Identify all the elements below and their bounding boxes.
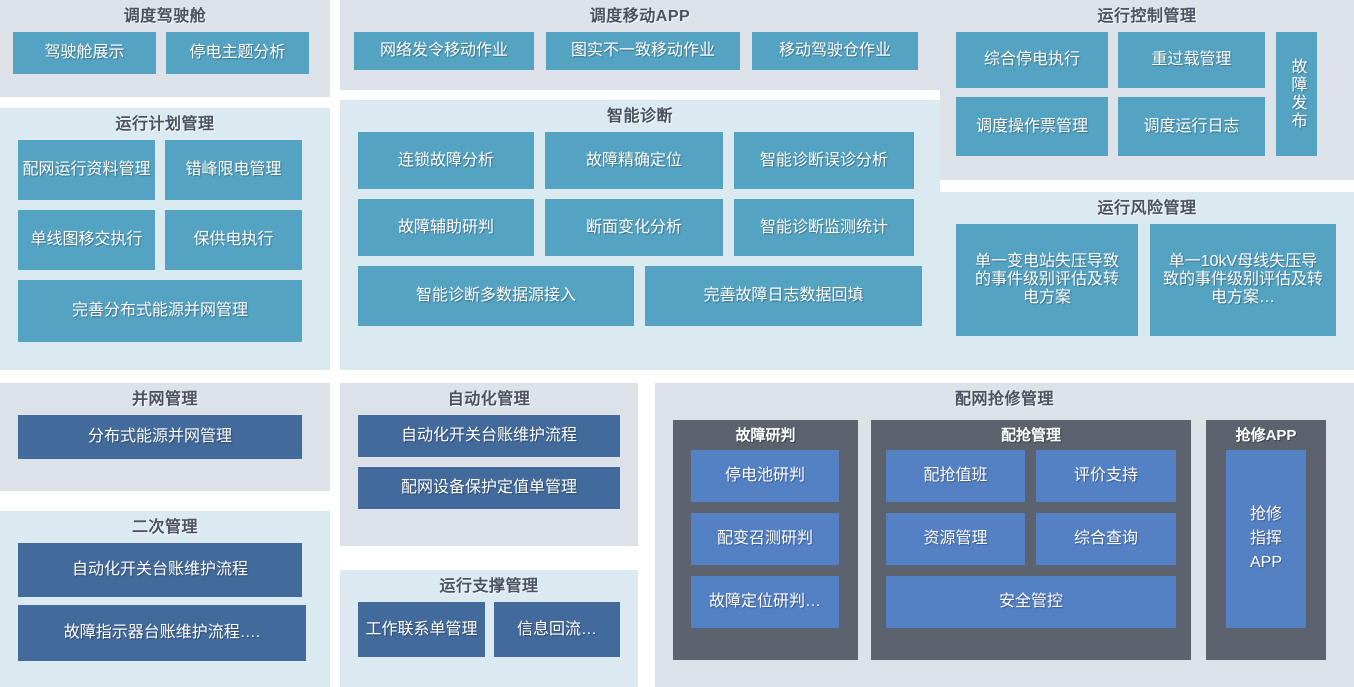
subpanel-title-repair-app: 抢修APP [1206,420,1326,450]
panel-title-operation-risk: 运行风险管理 [940,192,1354,224]
subpanel-repair-app: 抢修APP 抢修 指挥 APP [1206,420,1326,660]
tile-intelligent-diagnosis-monitoring-statistics[interactable]: 智能诊断监测统计 [734,199,914,256]
tile-single-10kv-busbar-voltage-loss-assessment[interactable]: 单一10kV母线失压导致的事件级别评估及转电方案… [1150,224,1336,336]
tile-work-contact-sheet-management[interactable]: 工作联系单管理 [358,602,485,657]
panel-dispatch-cockpit: 调度驾驶舱 驾驶舱展示 停电主题分析 [0,0,330,97]
subpanel-title-fault-judgement: 故障研判 [673,420,858,450]
tile-integrated-outage-execution[interactable]: 综合停电执行 [956,32,1108,88]
panel-secondary-management: 二次管理 自动化开关台账维护流程 故障指示器台账维护流程…. [0,511,330,687]
panel-title-operation-control: 运行控制管理 [940,0,1354,32]
panel-grid-connection: 并网管理 分布式能源并网管理 [0,383,330,491]
panel-dispatch-mobile-app: 调度移动APP 网络发令移动作业 图实不一致移动作业 移动驾驶仓作业 [340,0,940,90]
tile-intelligent-diagnosis-multi-source-access[interactable]: 智能诊断多数据源接入 [358,266,634,326]
tile-resource-management[interactable]: 资源管理 [886,513,1025,565]
tile-single-substation-voltage-loss-assessment[interactable]: 单一变电站失压导致的事件级别评估及转电方案 [956,224,1138,336]
panel-operation-control: 运行控制管理 综合停电执行 重过载管理 故障发布 调度操作票管理 调度运行日志 [940,0,1354,180]
tile-dispatch-operation-ticket-management[interactable]: 调度操作票管理 [956,97,1108,156]
tile-improve-fault-log-data-backfill[interactable]: 完善故障日志数据回填 [645,266,922,326]
tile-repair-duty[interactable]: 配抢值班 [886,450,1025,502]
tile-overload-management[interactable]: 重过载管理 [1118,32,1265,88]
tile-cockpit-display[interactable]: 驾驶舱展示 [13,32,156,74]
tile-safety-control[interactable]: 安全管控 [886,576,1176,628]
panel-operation-plan: 运行计划管理 配网运行资料管理 错峰限电管理 单线图移交执行 保供电执行 完善分… [0,108,330,370]
tile-fault-indicator-ledger-maintenance-process[interactable]: 故障指示器台账维护流程…. [18,605,306,661]
panel-title-automation-management: 自动化管理 [340,383,638,415]
tile-cascading-fault-analysis[interactable]: 连锁故障分析 [358,132,534,189]
tile-comprehensive-query[interactable]: 综合查询 [1036,513,1176,565]
tile-automation-switch-ledger-maintenance-process[interactable]: 自动化开关台账维护流程 [18,543,302,597]
panel-operation-risk: 运行风险管理 单一变电站失压导致的事件级别评估及转电方案 单一10kV母线失压导… [940,192,1354,370]
tile-automation-switch-ledger-process[interactable]: 自动化开关台账维护流程 [358,415,620,457]
tile-distributed-energy-grid-management[interactable]: 分布式能源并网管理 [18,415,302,459]
panel-automation-management: 自动化管理 自动化开关台账维护流程 配网设备保护定值单管理 [340,383,638,546]
tile-dispatch-operation-log[interactable]: 调度运行日志 [1118,97,1265,156]
panel-title-dispatch-mobile-app: 调度移动APP [340,0,940,32]
tile-outage-theme-analysis[interactable]: 停电主题分析 [166,32,309,74]
tile-transformer-telemetry-judgement[interactable]: 配变召测研判 [691,513,839,565]
tile-information-return[interactable]: 信息回流… [494,602,620,657]
panel-operation-support: 运行支撑管理 工作联系单管理 信息回流… [340,570,638,687]
tile-repair-command-app[interactable]: 抢修 指挥 APP [1226,450,1306,628]
panel-title-operation-support: 运行支撑管理 [340,570,638,602]
subpanel-title-repair-management: 配抢管理 [871,420,1191,450]
tile-section-change-analysis[interactable]: 断面变化分析 [545,199,723,256]
panel-title-grid-connection: 并网管理 [0,383,330,415]
panel-title-secondary-management: 二次管理 [0,511,330,543]
tile-single-line-diagram-handover-execution[interactable]: 单线图移交执行 [18,210,155,270]
tile-guaranteed-power-execution[interactable]: 保供电执行 [165,210,302,270]
panel-title-intelligent-diagnosis: 智能诊断 [340,100,940,132]
panel-title-operation-plan: 运行计划管理 [0,108,330,140]
tile-outage-pool-judgement[interactable]: 停电池研判 [691,450,839,502]
tile-fault-assisted-judgement[interactable]: 故障辅助研判 [358,199,534,256]
tile-peak-shaving-power-limit-management[interactable]: 错峰限电管理 [165,140,302,200]
tile-intelligent-diagnosis-misdiagnosis-analysis[interactable]: 智能诊断误诊分析 [734,132,914,189]
panel-intelligent-diagnosis: 智能诊断 连锁故障分析 故障精确定位 智能诊断误诊分析 故障辅助研判 断面变化分… [340,100,940,370]
tile-mobile-cockpit-task[interactable]: 移动驾驶仓作业 [752,32,918,70]
dashboard-canvas: 调度驾驶舱 驾驶舱展示 停电主题分析 调度移动APP 网络发令移动作业 图实不一… [0,0,1354,687]
panel-title-distribution-repair: 配网抢修管理 [655,383,1354,415]
tile-fault-location-judgement[interactable]: 故障定位研判… [691,576,839,628]
tile-network-order-mobile-task[interactable]: 网络发令移动作业 [354,32,534,70]
tile-fault-release[interactable]: 故障发布 [1276,32,1317,156]
panel-distribution-repair: 配网抢修管理 故障研判 停电池研判 配变召测研判 故障定位研判… 配抢管理 配抢… [655,383,1354,687]
tile-map-mismatch-mobile-task[interactable]: 图实不一致移动作业 [546,32,740,70]
tile-improve-distributed-energy-grid-management[interactable]: 完善分布式能源并网管理 [18,280,302,342]
panel-title-dispatch-cockpit: 调度驾驶舱 [0,0,330,32]
tile-distribution-equipment-protection-setting-management[interactable]: 配网设备保护定值单管理 [358,467,620,509]
tile-evaluation-support[interactable]: 评价支持 [1036,450,1176,502]
tile-distribution-operation-data-management[interactable]: 配网运行资料管理 [18,140,155,200]
subpanel-fault-judgement: 故障研判 停电池研判 配变召测研判 故障定位研判… [673,420,858,660]
tile-precise-fault-location[interactable]: 故障精确定位 [545,132,723,189]
subpanel-repair-management: 配抢管理 配抢值班 评价支持 资源管理 综合查询 安全管控 [871,420,1191,660]
